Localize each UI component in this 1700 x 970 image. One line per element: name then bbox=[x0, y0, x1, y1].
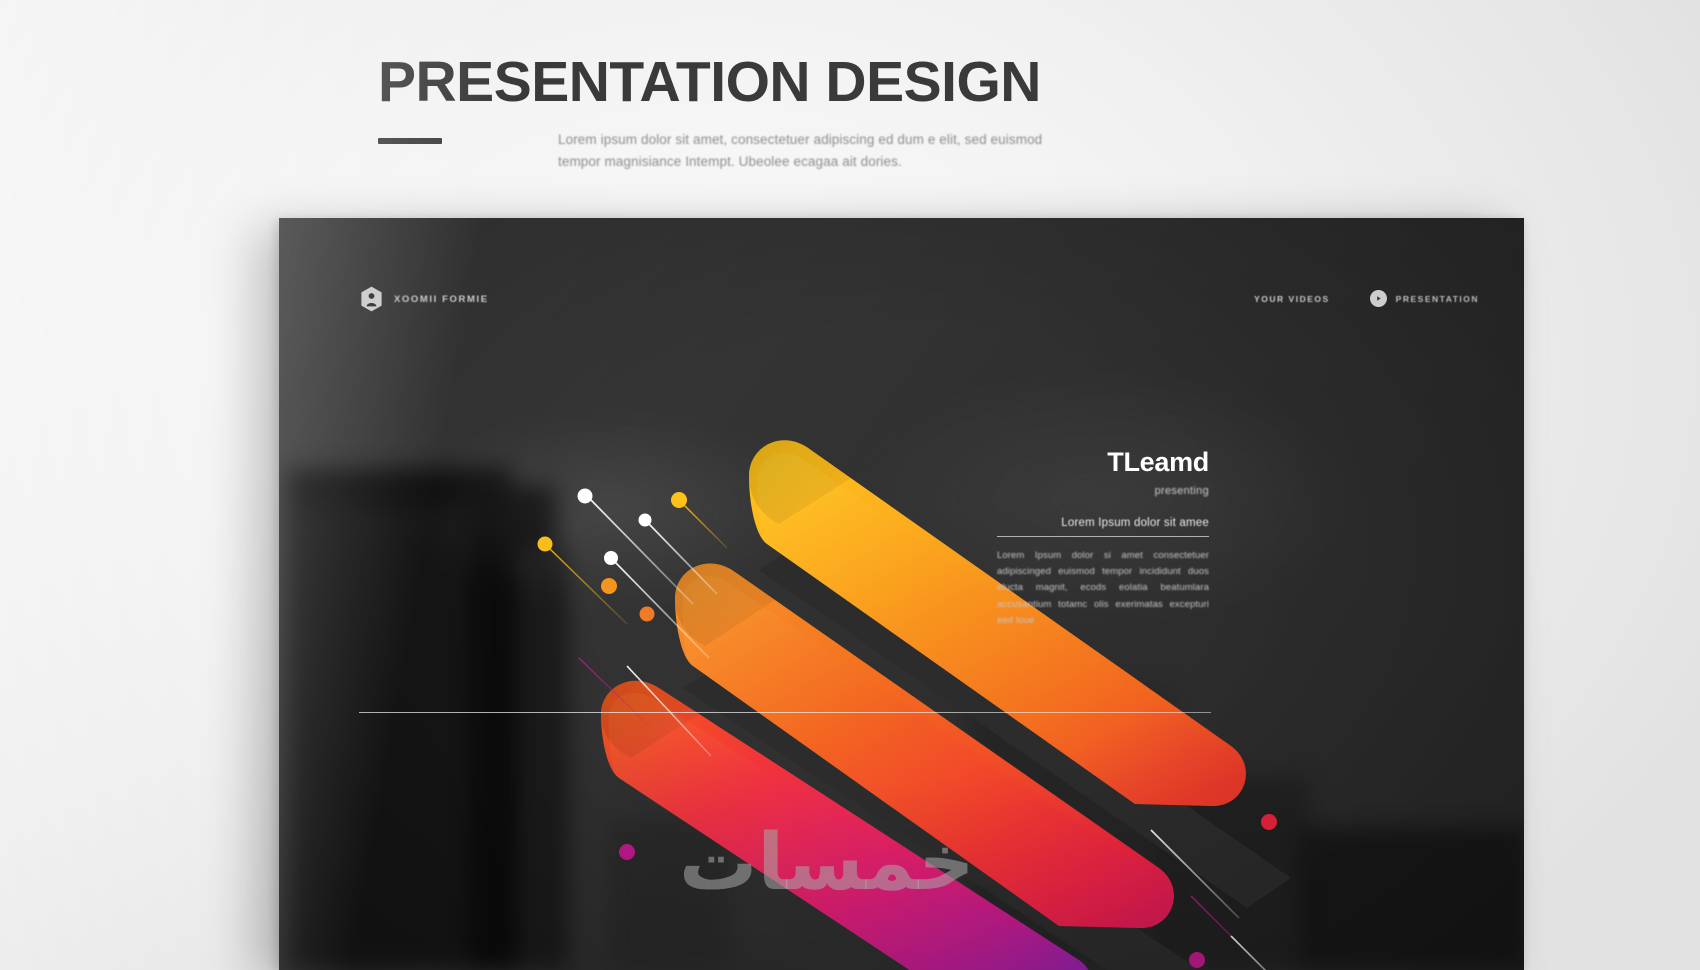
play-circle-icon bbox=[1370, 290, 1387, 307]
slide-subheading: presenting bbox=[997, 485, 1209, 497]
presentation-slide: XOOMII FORMIE YOUR VIDEOS PRESENTATION bbox=[279, 218, 1524, 970]
slide-body-text: Lorem Ipsum dolor si amet consectetuer a… bbox=[997, 548, 1209, 630]
slide-heading: TLeamd bbox=[997, 448, 1209, 478]
header-subtitle: Lorem ipsum dolor sit amet, consectetuer… bbox=[558, 129, 1078, 173]
hexagon-badge-icon bbox=[360, 286, 383, 312]
building-silhouette bbox=[969, 688, 1169, 970]
city-background bbox=[279, 218, 1524, 970]
page-canvas: PRESENTATION DESIGN Lorem ipsum dolor si… bbox=[0, 0, 1700, 970]
slide-text-block: TLeamd presenting Lorem Ipsum dolor sit … bbox=[997, 448, 1209, 629]
background-glow bbox=[399, 408, 819, 608]
slide-text-divider bbox=[997, 536, 1209, 537]
building-silhouette bbox=[1159, 778, 1309, 970]
nav-item-presentation-label: PRESENTATION bbox=[1396, 294, 1479, 304]
nav-item-your-videos[interactable]: YOUR VIDEOS bbox=[1254, 294, 1330, 304]
slide-horizontal-rule bbox=[359, 712, 1211, 713]
page-title: PRESENTATION DESIGN bbox=[378, 52, 1528, 112]
building-silhouette bbox=[517, 548, 569, 970]
header-block: PRESENTATION DESIGN Lorem ipsum dolor si… bbox=[378, 52, 1528, 144]
nav-item-presentation[interactable]: PRESENTATION bbox=[1370, 290, 1479, 307]
slide-lead-text: Lorem Ipsum dolor sit amee bbox=[997, 517, 1209, 529]
brand-label: XOOMII FORMIE bbox=[394, 294, 489, 305]
building-silhouette bbox=[1299, 828, 1524, 970]
building-silhouette bbox=[609, 818, 729, 970]
slide-topbar: XOOMII FORMIE YOUR VIDEOS PRESENTATION bbox=[279, 286, 1524, 320]
slide-nav: YOUR VIDEOS PRESENTATION bbox=[1254, 290, 1479, 307]
title-underline-rule bbox=[378, 138, 442, 144]
brand-lockup[interactable]: XOOMII FORMIE bbox=[360, 286, 489, 312]
